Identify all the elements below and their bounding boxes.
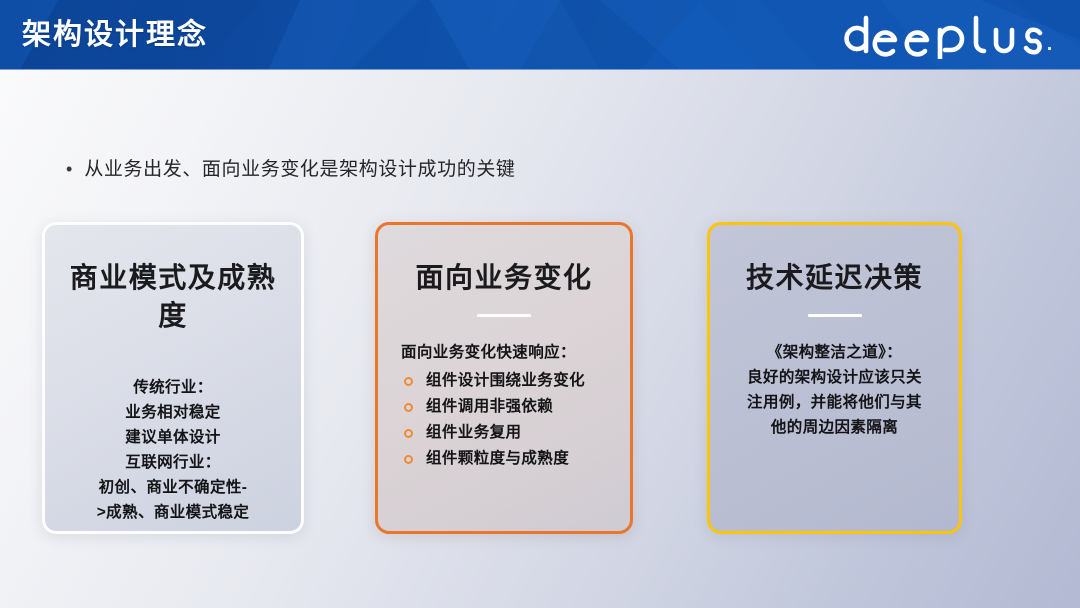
card-1-body: 传统行业： 业务相对稳定 建议单体设计 互联网行业： 初创、商业不确定性- >成… bbox=[59, 375, 287, 525]
page-title: 架构设计理念 bbox=[22, 13, 208, 57]
card-2-body: 面向业务变化快速响应： 组件设计围绕业务变化 组件调用非强依赖 组件业务复用 bbox=[383, 340, 625, 472]
slide-canvas: 架构设计理念 bbox=[0, 0, 1080, 608]
card-2-lead-line: 面向业务变化快速响应： bbox=[401, 340, 625, 366]
card-tech-deferred-decision[interactable]: 技术延迟决策 《架构整洁之道》： 良好的架构设计应该只关 注用例，并能将他们与其… bbox=[707, 222, 962, 534]
ring-bullet-icon bbox=[404, 377, 413, 386]
card-3-line: 良好的架构设计应该只关 bbox=[724, 365, 945, 390]
card-3-divider bbox=[808, 314, 862, 317]
card-1-title: 商业模式及成熟度 bbox=[59, 259, 287, 335]
card-2-title: 面向业务变化 bbox=[415, 259, 592, 297]
ring-bullet-icon bbox=[404, 403, 413, 412]
list-item-label: 组件颗粒度与成熟度 bbox=[426, 450, 569, 467]
card-1-line: 互联网行业： bbox=[59, 450, 287, 475]
ring-bullet-icon bbox=[404, 429, 413, 438]
list-item-label: 组件设计围绕业务变化 bbox=[426, 372, 585, 389]
card-2-divider bbox=[477, 314, 531, 317]
card-business-change-oriented[interactable]: 面向业务变化 面向业务变化快速响应： 组件设计围绕业务变化 组件调用非强依赖 bbox=[375, 222, 633, 534]
logo-trademark-dot bbox=[1048, 47, 1051, 50]
lead-bullet-text: 从业务出发、面向业务变化是架构设计成功的关键 bbox=[84, 156, 515, 184]
deeplus-logo bbox=[836, 11, 1064, 59]
list-item-label: 组件调用非强依赖 bbox=[426, 398, 553, 415]
card-3-title: 技术延迟决策 bbox=[746, 259, 923, 297]
slide-header: 架构设计理念 bbox=[0, 0, 1080, 70]
list-item-label: 组件业务复用 bbox=[426, 424, 521, 441]
card-3-line: 注用例，并能将他们与其 bbox=[724, 390, 945, 415]
list-item: 组件调用非强依赖 bbox=[401, 394, 625, 420]
card-1-line: 建议单体设计 bbox=[59, 425, 287, 450]
lead-bullet-line: • 从业务出发、面向业务变化是架构设计成功的关键 bbox=[66, 155, 516, 184]
card-2-bullet-list: 组件设计围绕业务变化 组件调用非强依赖 组件业务复用 组件颗粒度与成熟度 bbox=[401, 368, 625, 472]
card-3-line: 《架构整洁之道》： bbox=[724, 340, 945, 365]
ring-bullet-icon bbox=[404, 455, 413, 464]
deeplus-logo-mark bbox=[836, 11, 1064, 59]
card-1-line: 传统行业： bbox=[59, 375, 287, 400]
list-item: 组件业务复用 bbox=[401, 420, 625, 446]
list-item: 组件设计围绕业务变化 bbox=[401, 368, 625, 394]
list-item: 组件颗粒度与成熟度 bbox=[401, 446, 625, 472]
card-business-model-maturity[interactable]: 商业模式及成熟度 传统行业： 业务相对稳定 建议单体设计 互联网行业： 初创、商… bbox=[42, 222, 304, 534]
card-3-line: 他的周边因素隔离 bbox=[724, 415, 945, 440]
card-1-line: >成熟、商业模式稳定 bbox=[59, 500, 287, 525]
card-1-line: 初创、商业不确定性- bbox=[59, 475, 287, 500]
lead-bullet-glyph: • bbox=[66, 155, 72, 183]
card-1-line: 业务相对稳定 bbox=[59, 400, 287, 425]
card-3-body: 《架构整洁之道》： 良好的架构设计应该只关 注用例，并能将他们与其 他的周边因素… bbox=[724, 340, 945, 440]
header-bottom-divider bbox=[0, 69, 1080, 70]
